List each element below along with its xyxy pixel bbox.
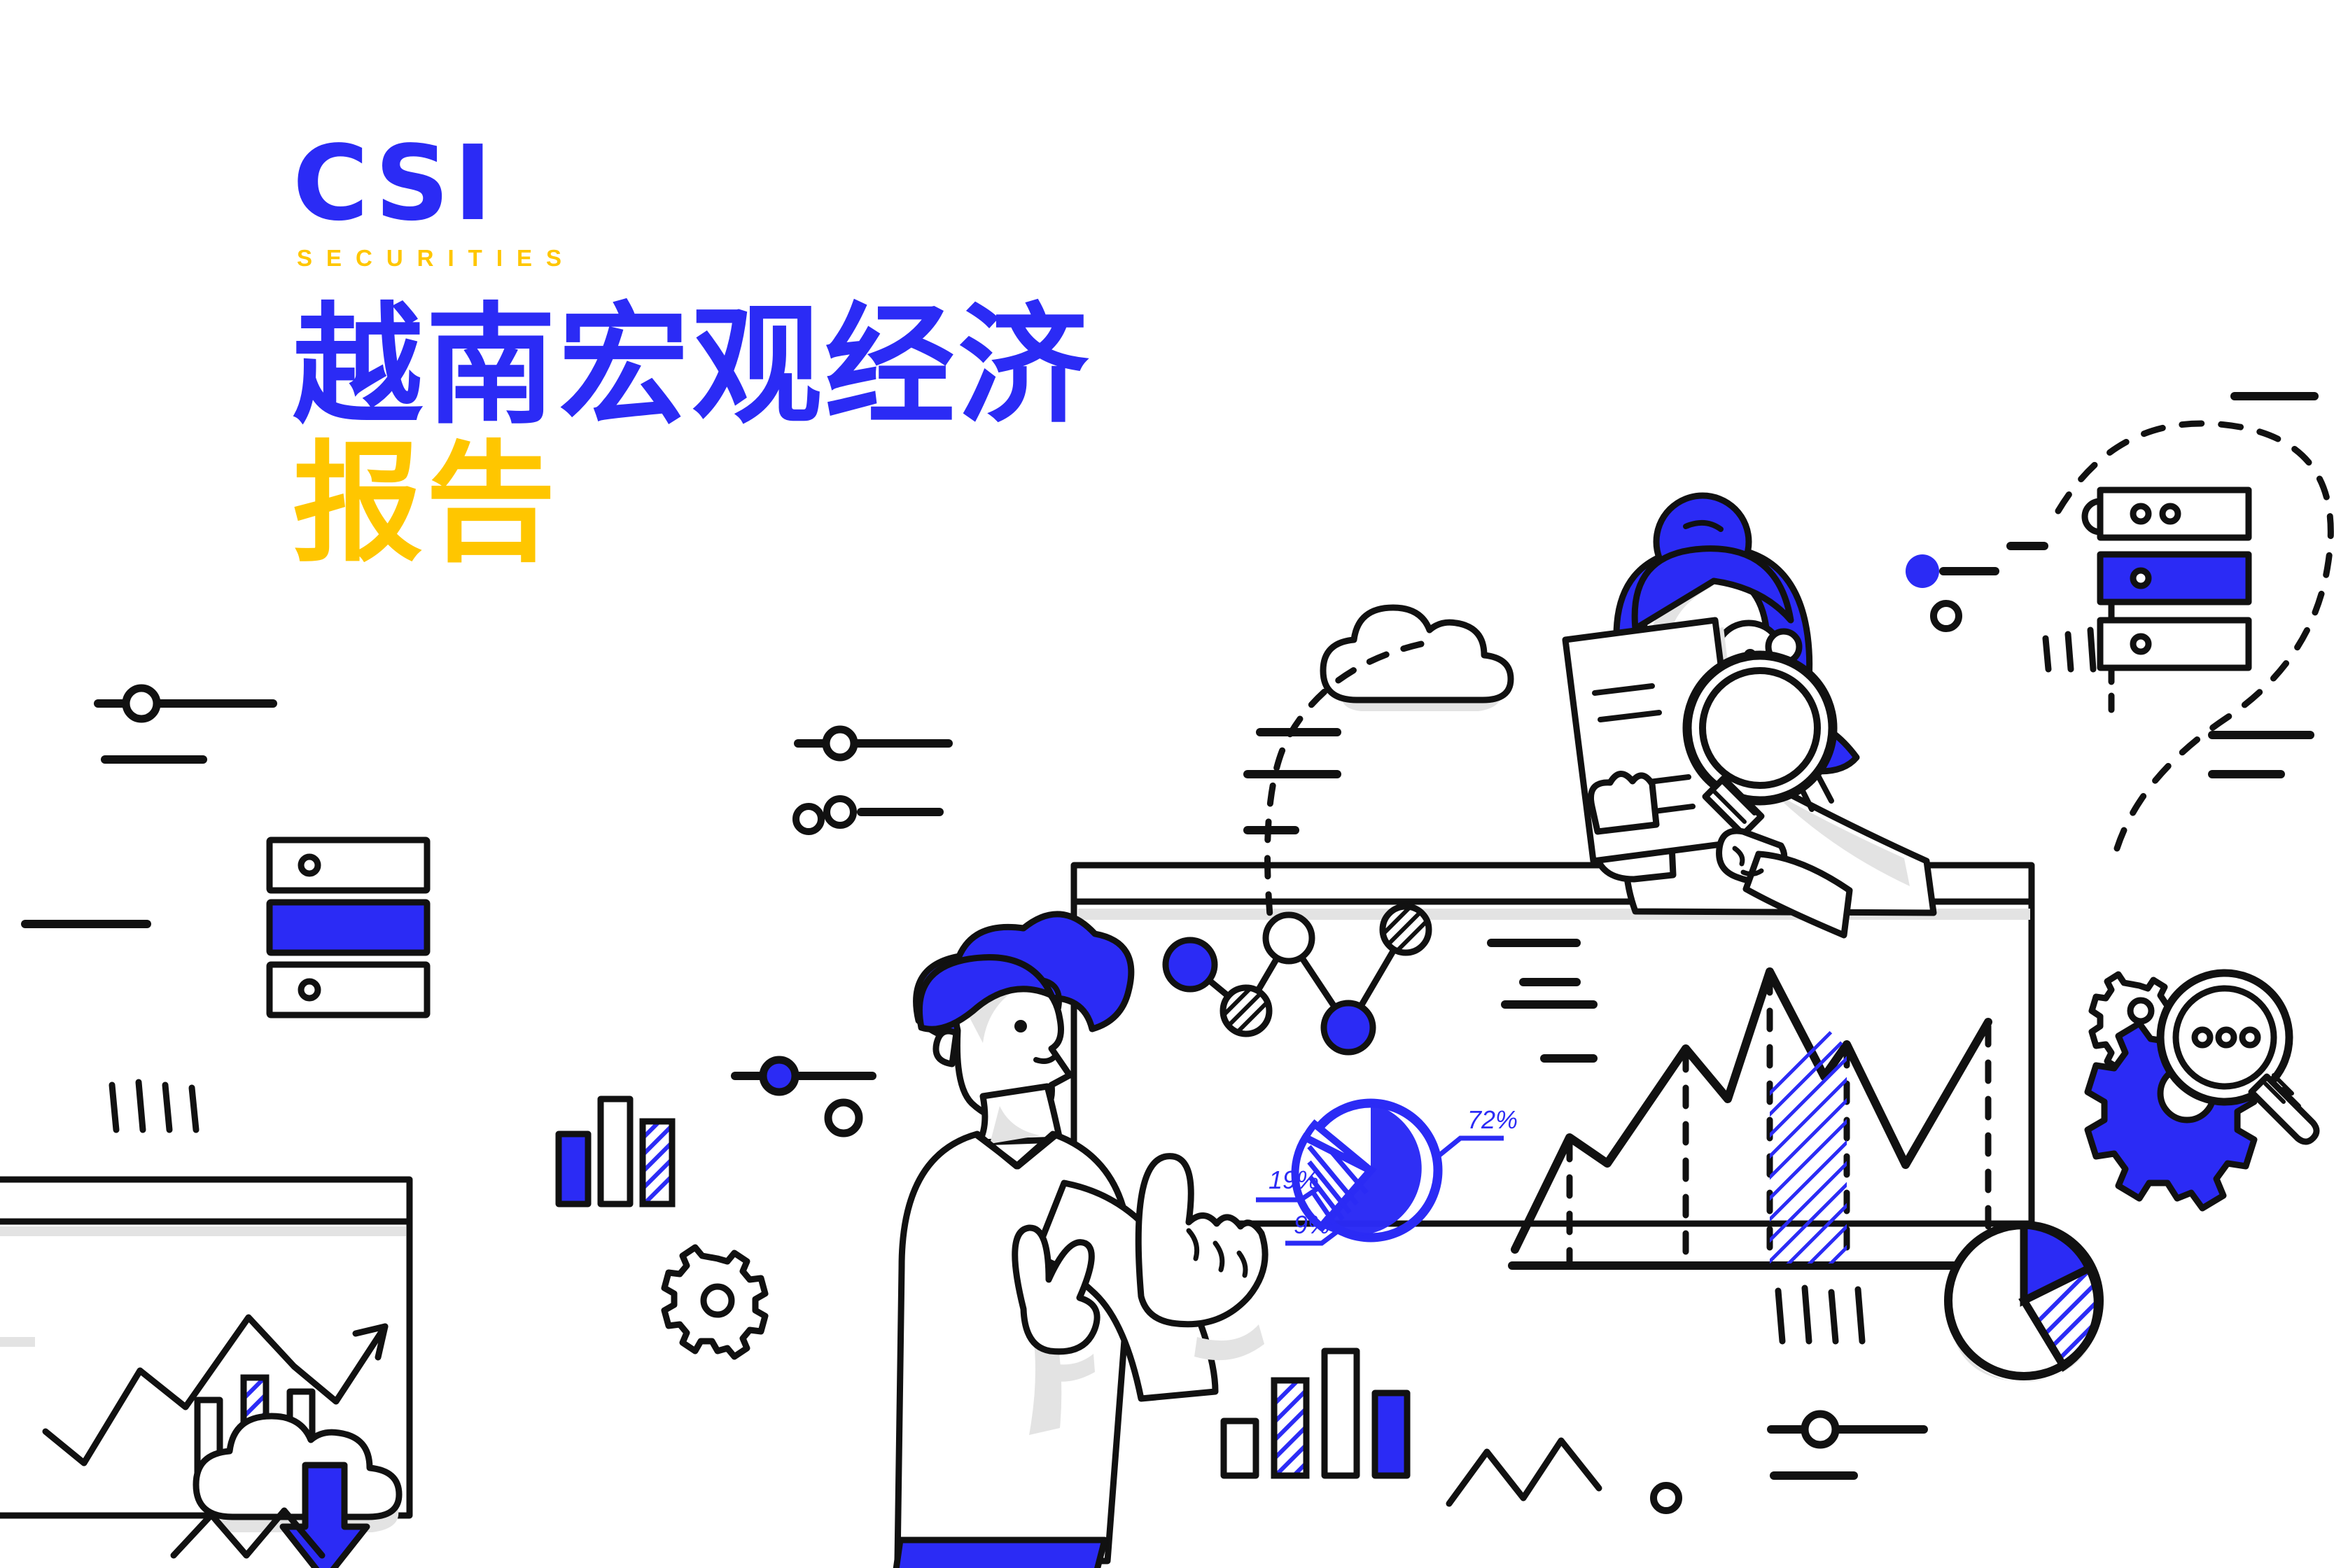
- gear-icon-left: [658, 1246, 784, 1351]
- mini-zigzag-left: [168, 1498, 392, 1561]
- divider-line-board-mid: [1484, 927, 1666, 990]
- bottom-center-bar-chart: [1218, 1316, 1428, 1491]
- tick-marks-bottom: [1771, 1281, 1897, 1358]
- dot-marker-upper-mid: [812, 784, 952, 840]
- divider-line-board-top: [1253, 714, 1435, 770]
- text-dash-group-a: [1239, 763, 1421, 861]
- pie-label-9: 9%: [1294, 1210, 1330, 1239]
- magnifier-dots-icon: [2100, 931, 2334, 1155]
- slider-icon-mid[interactable]: [791, 714, 973, 770]
- divider-line-right: [2205, 721, 2334, 784]
- divider-line-topright: [2226, 378, 2334, 441]
- csi-logo-subtitle: SECURITIES: [297, 245, 1273, 272]
- dot-marker-bottom: [1638, 1470, 1715, 1526]
- mid-left-bar-chart: [553, 1078, 707, 1218]
- bottom-right-pie-chart: [1929, 1183, 2160, 1407]
- divider-line-left: [21, 910, 161, 952]
- mini-zigzag-center: [1442, 1421, 1638, 1519]
- dashed-connector-right: [1946, 378, 2334, 910]
- page-title-line2: 报告: [293, 435, 1273, 573]
- brand-title-block: CSI SECURITIES 越南宏观经济 报告: [293, 132, 1273, 573]
- dot-marker-right-white: [1918, 588, 2002, 658]
- tick-marks-left: [105, 1078, 217, 1141]
- poster-canvas: CSI SECURITIES 越南宏观经济 报告: [0, 0, 2334, 1555]
- server-rack-icon-left: [266, 836, 441, 1022]
- csi-logo-text: CSI: [293, 132, 1273, 235]
- page-title-line1: 越南宏观经济: [293, 297, 1273, 435]
- man-presenter: [833, 889, 1281, 1561]
- slider-icon-bottom-right[interactable]: [1764, 1400, 1974, 1491]
